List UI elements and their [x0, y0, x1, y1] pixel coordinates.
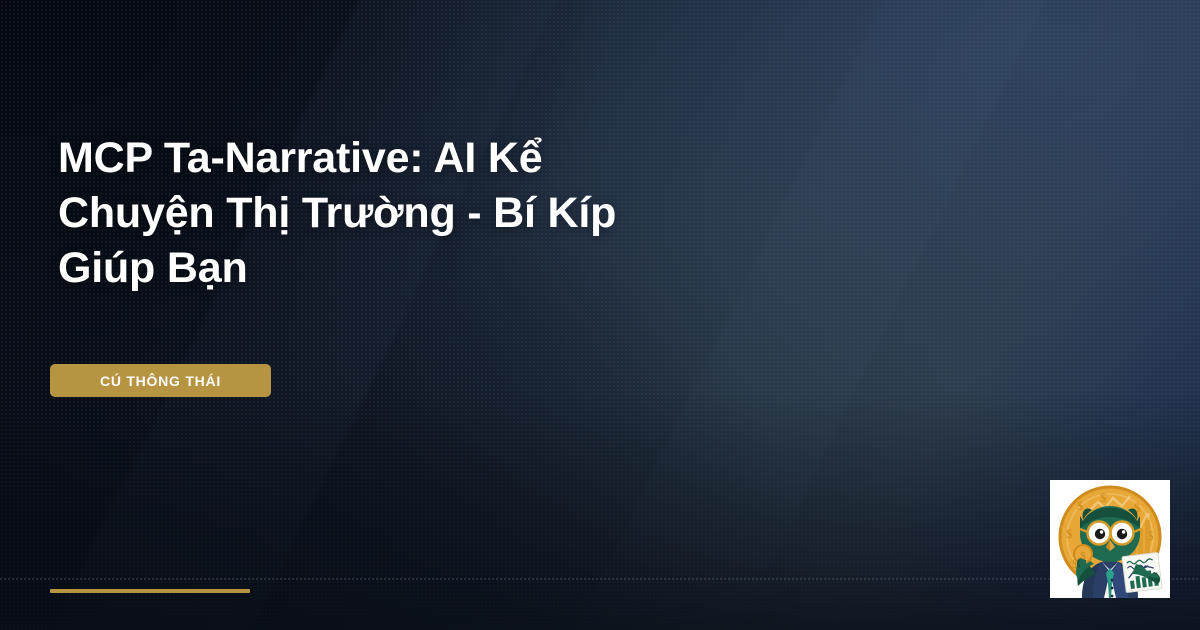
status-badge: CÚ THÔNG THÁI: [50, 364, 271, 397]
card-content: MCP Ta-Narrative: AI Kể Chuyện Thị Trườn…: [0, 0, 1200, 630]
footer-dotted-rule: [0, 578, 1200, 580]
owl-mascot-logo: $ $ $ $ $ $ $: [1050, 480, 1170, 598]
owl-mascot-icon: $ $ $ $ $ $ $: [1050, 480, 1170, 598]
og-share-card: MCP Ta-Narrative: AI Kể Chuyện Thị Trườn…: [0, 0, 1200, 630]
status-badge-label: CÚ THÔNG THÁI: [100, 373, 221, 389]
page-title: MCP Ta-Narrative: AI Kể Chuyện Thị Trườn…: [58, 131, 698, 296]
svg-text:$: $: [1066, 526, 1073, 541]
svg-text:$: $: [1100, 490, 1107, 505]
footer-gold-rule: [50, 589, 250, 593]
svg-text:$: $: [1077, 498, 1084, 513]
